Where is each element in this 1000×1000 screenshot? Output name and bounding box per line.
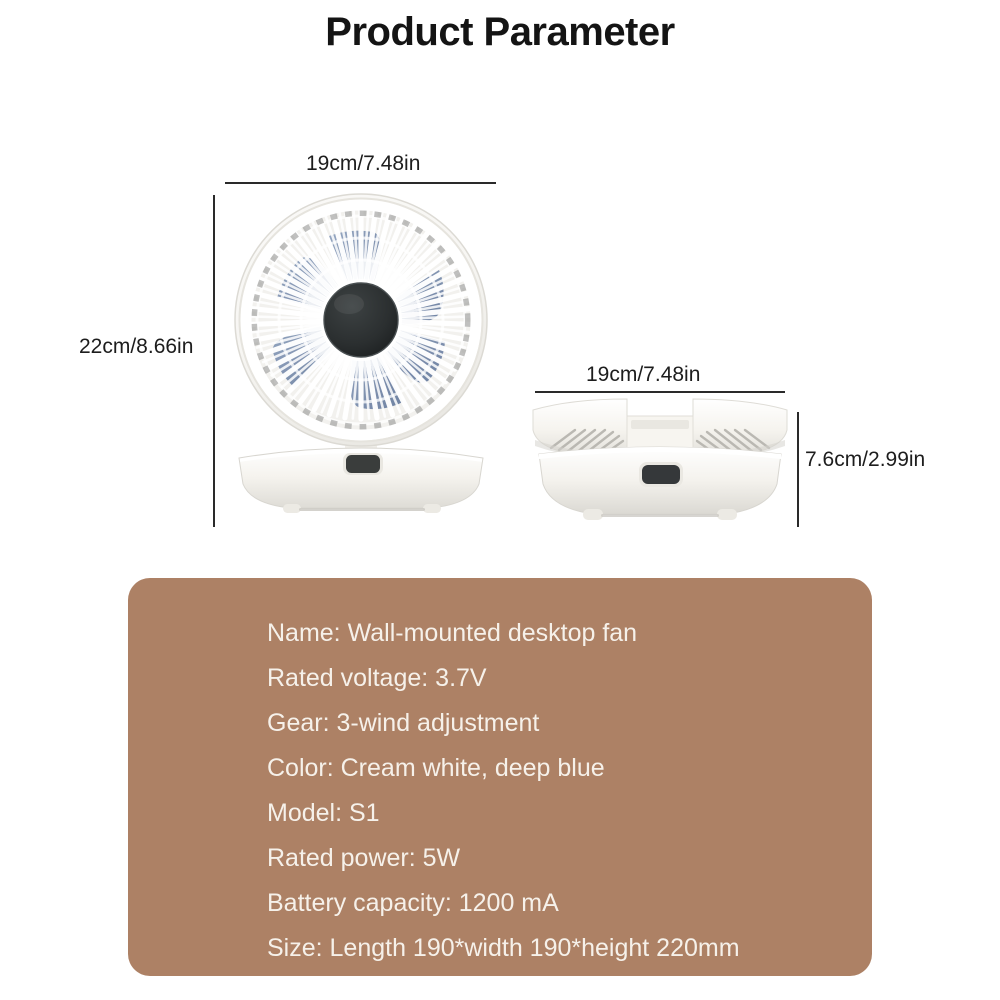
dimension-line-width-folded: [535, 391, 785, 393]
specifications-panel: Name: Wall-mounted desktop fan Rated vol…: [128, 578, 872, 976]
fan-base-graphic: [235, 444, 487, 516]
spec-item-rated-power: Rated power: 5W: [267, 836, 740, 881]
product-image-open: [225, 192, 497, 527]
spec-item-rated-voltage: Rated voltage: 3.7V: [267, 656, 740, 701]
dimension-line-height-open: [213, 195, 215, 527]
dimension-line-width-open: [225, 182, 496, 184]
fan-head-graphic: [233, 192, 489, 454]
spec-item-size: Size: Length 190*width 190*height 220mm: [267, 926, 740, 971]
dimension-label-height-open: 22cm/8.66in: [79, 335, 193, 359]
control-panel-display[interactable]: [346, 455, 380, 473]
dimension-label-width-folded: 19cm/7.48in: [586, 363, 700, 387]
spec-item-gear: Gear: 3-wind adjustment: [267, 701, 740, 746]
spec-item-name: Name: Wall-mounted desktop fan: [267, 611, 740, 656]
dimension-label-width-open: 19cm/7.48in: [306, 152, 420, 176]
control-panel-display-folded[interactable]: [642, 465, 680, 484]
dimension-line-height-folded: [797, 412, 799, 527]
spec-item-battery-capacity: Battery capacity: 1200 mA: [267, 881, 740, 926]
page-title: Product Parameter: [0, 10, 1000, 55]
specifications-list: Name: Wall-mounted desktop fan Rated vol…: [267, 611, 740, 971]
product-image-folded: [531, 396, 789, 530]
dimension-label-height-folded: 7.6cm/2.99in: [805, 448, 925, 472]
spec-item-color: Color: Cream white, deep blue: [267, 746, 740, 791]
spec-item-model: Model: S1: [267, 791, 740, 836]
